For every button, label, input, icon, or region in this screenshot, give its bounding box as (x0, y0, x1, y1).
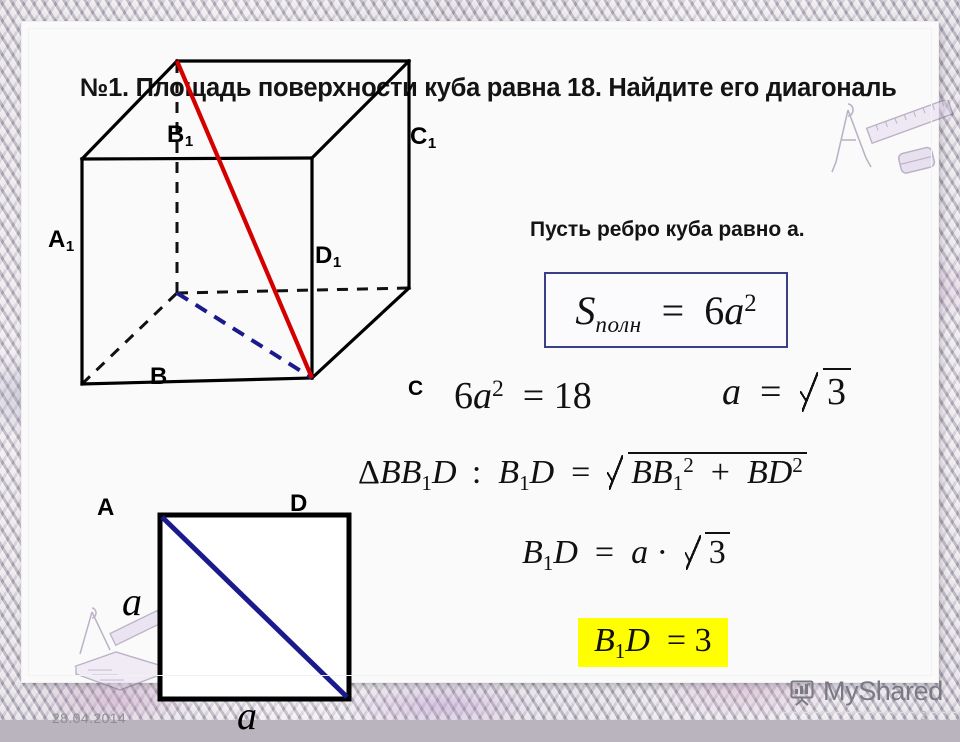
page-number: 2 (920, 708, 927, 723)
equation-triangle-bb1d: ΔBB1D : B1D = BB12 + BD2 (358, 450, 807, 492)
answer-highlight-box: B1D = 3 (578, 618, 728, 667)
cube-vertex-label-b1: B1 (167, 123, 193, 147)
equation-b1d-equals-a-sqrt3: B1D = a · 3 (522, 530, 730, 572)
cube-vertex-label-d1: D1 (315, 244, 341, 268)
equation-a-equals-sqrt3: a = 3 (722, 366, 851, 414)
surface-area-formula: Sполн = 6a2 (575, 287, 756, 334)
slide-date: 28.04.2014 (52, 710, 126, 726)
square-side-label-bottom: a (237, 696, 257, 736)
final-answer: B1D = 3 (594, 622, 712, 659)
drafting-tools-clipart (822, 100, 960, 186)
cube-vertex-label-c: C (408, 378, 423, 399)
cube-vertex-label-b: B (150, 365, 167, 389)
brand-divider (782, 712, 958, 713)
slide-card: №1. Площадь поверхности куба равна 18. Н… (22, 22, 938, 682)
cube-vertex-label-c1: C1 (410, 125, 436, 149)
cube-vertex-label-a: A (97, 496, 114, 520)
cube-vertex-label-a1: A1 (48, 228, 74, 252)
equation-6a2-equals-18: 6a2 = 18 (454, 374, 592, 418)
cube-space-diagonal (177, 61, 312, 378)
presentation-board-icon (788, 678, 816, 706)
slide-background: №1. Площадь поверхности куба равна 18. Н… (0, 0, 960, 720)
myshared-label: MyShared (823, 676, 943, 707)
lead-text: Пусть ребро куба равно a. (530, 218, 805, 242)
square-side-label-left: a (122, 582, 142, 622)
myshared-watermark[interactable]: MyShared (788, 676, 943, 707)
square-diagram: a a (142, 506, 372, 742)
surface-area-formula-box: Sполн = 6a2 (544, 272, 788, 348)
